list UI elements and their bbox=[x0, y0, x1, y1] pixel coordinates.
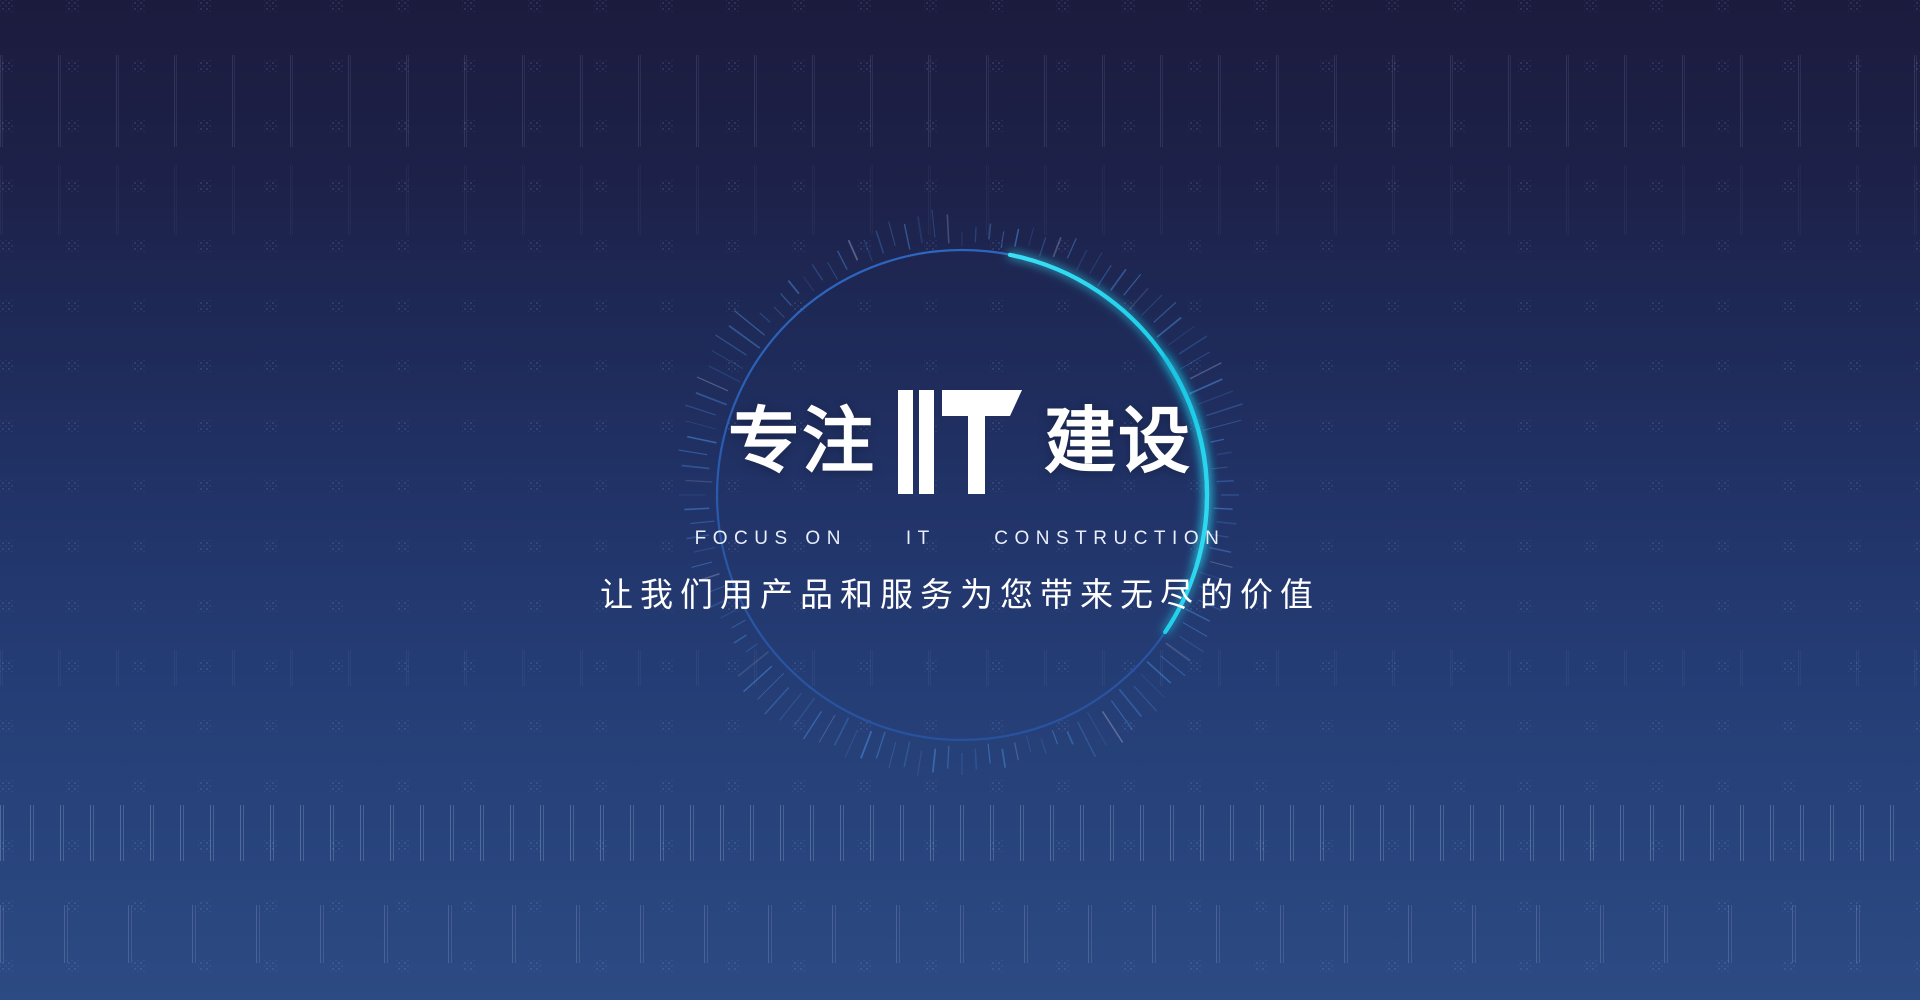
tick-band-middle bbox=[0, 650, 1920, 686]
subtitle-chinese: 让我们用产品和服务为您带来无尽的价值 bbox=[0, 568, 1920, 616]
headline: 专注 建设 bbox=[0, 384, 1920, 500]
tick-band-bottom bbox=[0, 905, 1920, 963]
tick-band-upper bbox=[0, 165, 1920, 235]
hero-banner: 专注 建设 FOCUS ON IT CONSTRUCTION 让我们用产品和服务… bbox=[0, 0, 1920, 1000]
tick-band-top bbox=[0, 55, 1920, 147]
subtitle-english: FOCUS ON IT CONSTRUCTION bbox=[0, 528, 1920, 550]
it-logo-icon bbox=[898, 390, 1022, 494]
dot-grid-texture bbox=[0, 0, 1920, 1000]
tick-band-lower bbox=[0, 805, 1920, 861]
headline-right-text: 建设 bbox=[1044, 406, 1192, 478]
headline-left-text: 专注 bbox=[728, 406, 876, 478]
